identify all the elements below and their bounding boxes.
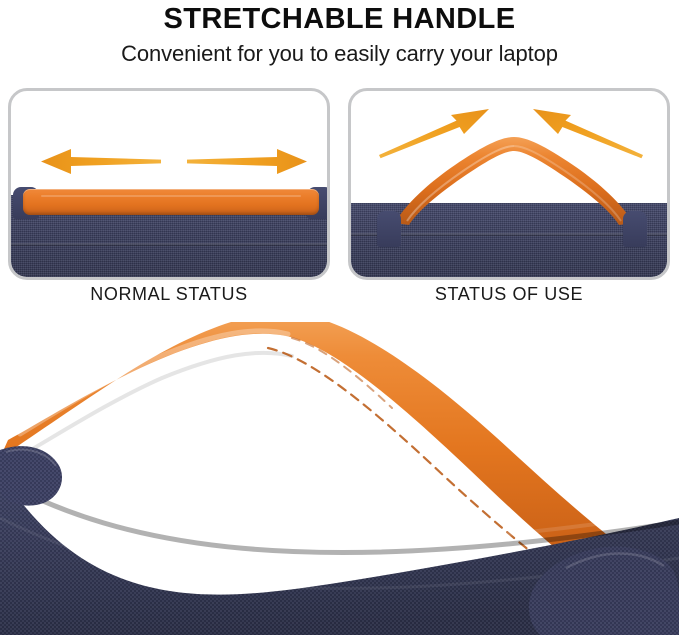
hero-product-photo <box>0 322 679 635</box>
arrow-right-icon <box>187 147 307 177</box>
page-title: STRETCHABLE HANDLE <box>0 0 679 35</box>
panel-normal-illustration <box>11 91 327 277</box>
panel-use-illustration <box>351 91 667 277</box>
page-subtitle: Convenient for you to easily carry your … <box>0 35 679 66</box>
handle-arch <box>351 91 667 277</box>
fabric-seam <box>11 243 327 246</box>
hero-illustration <box>0 322 679 635</box>
handle-loop-left <box>377 211 401 247</box>
arrow-left-icon <box>41 147 161 177</box>
comparison-panels: NORMAL STATUS STATUS OF USE <box>0 88 679 318</box>
handle-loop-right <box>623 211 647 247</box>
caption-status-of-use: STATUS OF USE <box>348 284 670 305</box>
header: STRETCHABLE HANDLE Convenient for you to… <box>0 0 679 67</box>
panel-status-of-use <box>348 88 670 280</box>
handle-flat <box>23 189 319 215</box>
panel-normal-status <box>8 88 330 280</box>
handle-bar <box>23 189 319 215</box>
caption-normal-status: NORMAL STATUS <box>8 284 330 305</box>
